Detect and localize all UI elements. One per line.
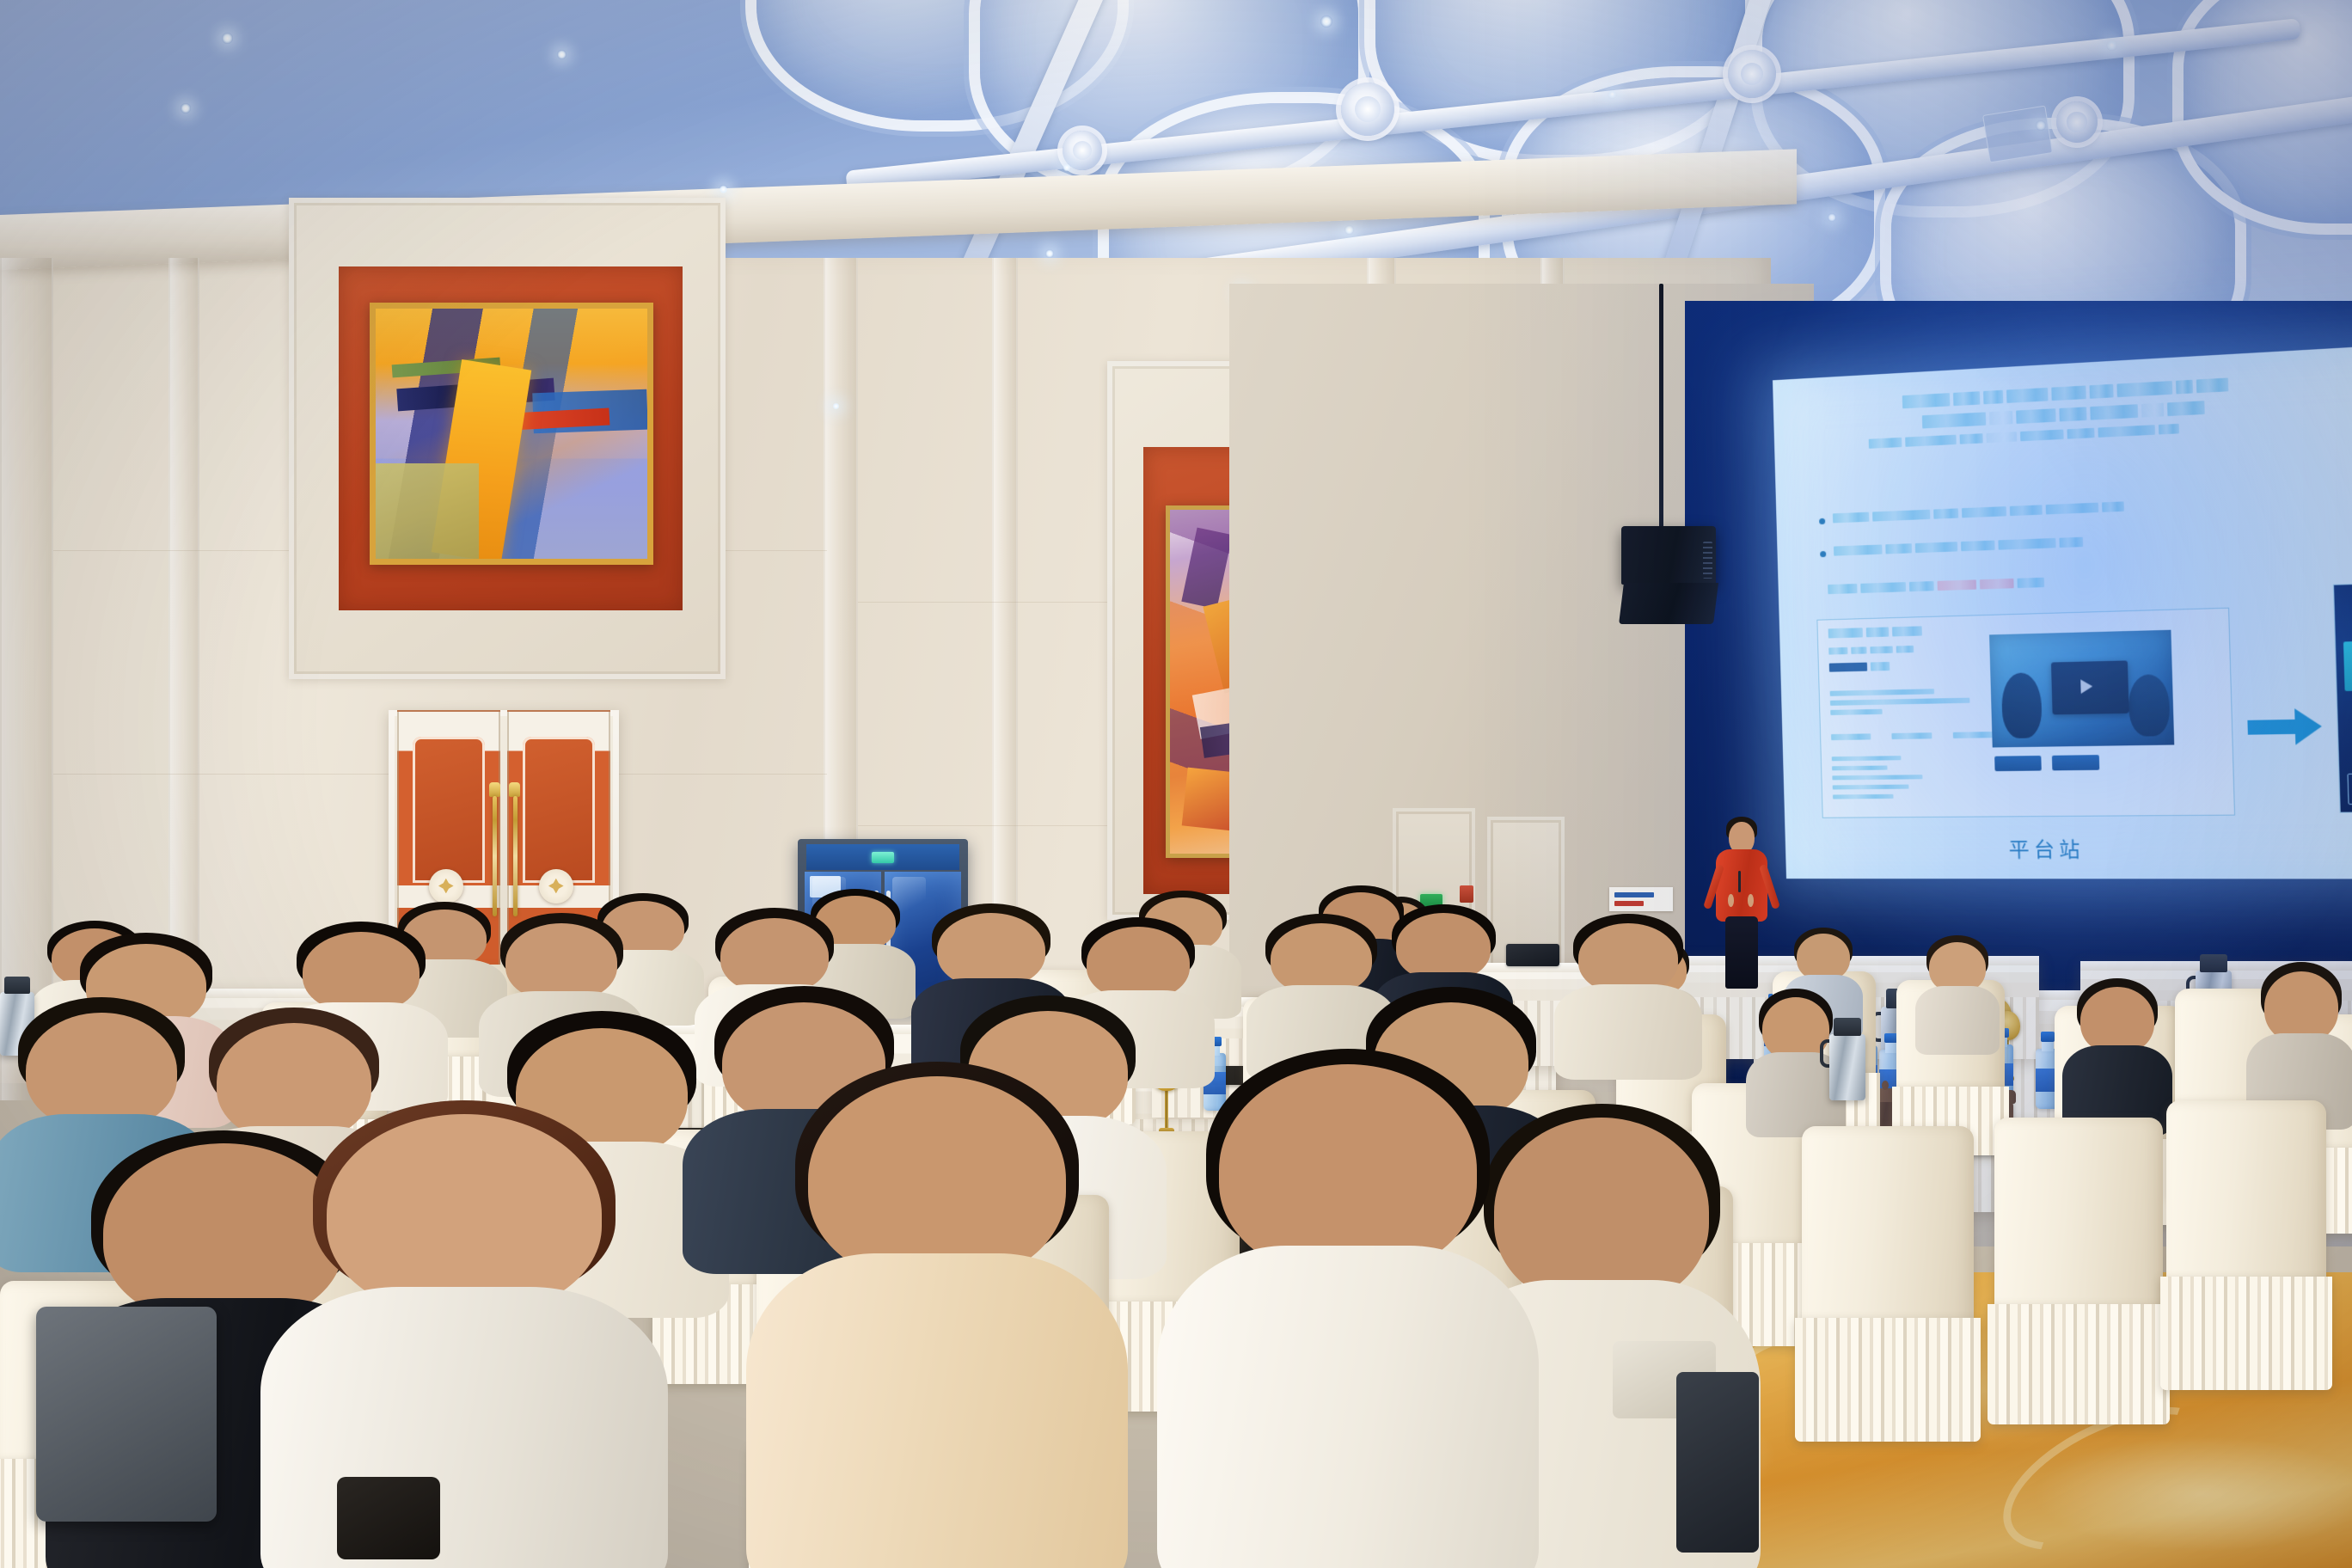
card-action-button[interactable] — [2052, 755, 2099, 770]
projection-screen: ◎ 平台站 — [1773, 343, 2352, 879]
slide-bullet-item — [1820, 531, 2242, 558]
conference-hall-scene: ◎ 平台站 — [0, 0, 2352, 1568]
door-handle[interactable] — [493, 796, 497, 916]
fire-alarm-box[interactable] — [1460, 885, 1473, 903]
banquet-chair[interactable] — [1802, 1126, 1974, 1436]
audience-member — [1219, 1064, 1477, 1568]
ceiling-downlight — [1320, 15, 1332, 28]
bullet-dot-icon — [1819, 518, 1825, 524]
ceiling-downlight — [2036, 120, 2046, 131]
door-panel — [413, 737, 485, 883]
app-tile — [2343, 640, 2352, 691]
card-stats-censored — [1831, 732, 1994, 740]
banquet-chair[interactable] — [1994, 1118, 2163, 1418]
card-meta-censored — [1828, 646, 1914, 655]
slide-bullet-item — [1819, 497, 2241, 524]
door-medallion-icon — [429, 869, 463, 903]
presenter — [1712, 822, 1771, 985]
ceiling-rosette — [1728, 50, 1776, 98]
tote-bag — [1676, 1372, 1759, 1553]
arrow-right-icon — [2247, 705, 2323, 752]
ceiling-downlight — [1608, 89, 1617, 99]
slide-title-censored — [1902, 367, 2352, 447]
ceiling-downlight — [222, 33, 233, 44]
mosaic-row — [1834, 537, 2083, 556]
slide-content-card — [1816, 608, 2235, 818]
audience-member — [1578, 923, 1678, 1076]
vacuum-flask[interactable] — [1829, 1018, 1865, 1100]
ceiling-rosette — [1341, 83, 1394, 136]
audience-member — [2080, 987, 2154, 1133]
door-medallion-icon — [539, 869, 573, 903]
cabinet-header — [806, 844, 959, 870]
slide-subhead-censored — [1828, 573, 2204, 595]
line-array-loudspeaker — [1621, 526, 1716, 585]
door-handle-knob[interactable] — [509, 782, 520, 797]
ceiling-downlight — [1344, 225, 1354, 235]
banquet-chair[interactable] — [2166, 1100, 2326, 1384]
ceiling-vent — [1982, 106, 2053, 163]
ceiling-downlight — [2106, 40, 2117, 51]
ceiling-downlight — [1828, 213, 1836, 222]
card-action-button[interactable] — [1994, 756, 2042, 771]
wall-notice-sign — [1609, 887, 1673, 911]
ceiling-downlight — [1063, 163, 1071, 172]
slide-footer-label: 平台站 — [2008, 832, 2085, 862]
card-video-thumbnail[interactable] — [1989, 630, 2174, 748]
abstract-landscape-painting — [370, 303, 653, 565]
temperature-display — [872, 852, 894, 863]
door-handle-knob[interactable] — [489, 782, 500, 797]
card-header-censored — [1828, 626, 1922, 638]
ceiling-rosette — [2056, 101, 2098, 143]
door-handle[interactable] — [513, 796, 518, 916]
door-panel — [523, 737, 595, 883]
bullet-dot-icon — [1820, 551, 1826, 557]
audience-member — [1762, 997, 1829, 1135]
laptop[interactable] — [1506, 944, 1559, 966]
speaker-mount-pole — [1659, 284, 1663, 542]
card-list-censored — [1832, 756, 1923, 799]
audience-member — [1929, 942, 1986, 1052]
app-footer-field — [2347, 772, 2352, 805]
backpack — [36, 1307, 217, 1522]
audience-member — [808, 1076, 1066, 1568]
card-body-censored — [1830, 688, 1970, 715]
card-tag-censored — [1829, 662, 1890, 672]
ceiling-downlight — [557, 50, 567, 59]
mosaic-row — [1833, 501, 2124, 523]
handbag — [337, 1477, 440, 1559]
mobile-app-preview: ◎ — [2333, 579, 2352, 813]
